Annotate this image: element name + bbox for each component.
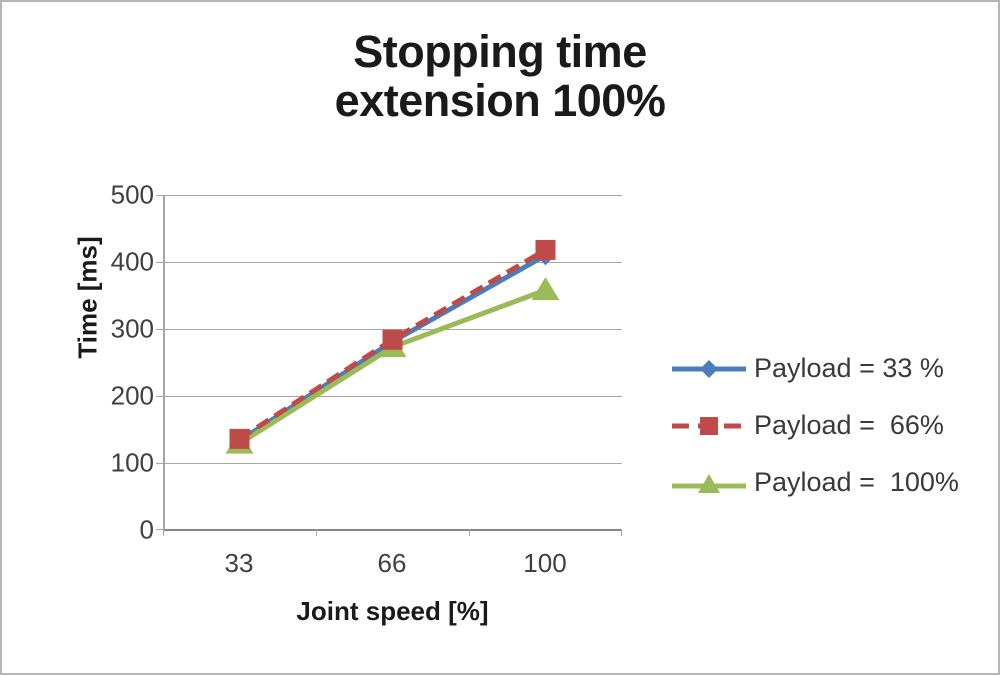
y-tick-label-0: 0	[74, 515, 154, 546]
y-tick-mark-500	[156, 195, 163, 196]
legend-item-payload-33[interactable]: Payload = 33 %	[670, 340, 990, 397]
y-axis-tick-labels: 0 100 200 300 400 500	[62, 195, 154, 530]
y-tick-label-100: 100	[74, 448, 154, 479]
x-tick-mark-2	[469, 529, 470, 536]
x-tick-label-33: 33	[179, 548, 299, 579]
x-tick-mark-1	[316, 529, 317, 536]
y-tick-mark-0	[156, 529, 163, 530]
legend-key-square-icon	[670, 412, 748, 440]
y-tick-mark-100	[156, 463, 163, 464]
chart-legend: Payload = 33 % Payload = 66%	[670, 340, 990, 511]
legend-key-triangle-icon	[670, 469, 748, 497]
y-tick-label-500: 500	[74, 180, 154, 211]
y-tick-mark-200	[156, 396, 163, 397]
legend-label-payload-33: Payload = 33 %	[754, 353, 944, 384]
data-point[interactable]	[532, 277, 560, 300]
y-tick-label-200: 200	[74, 381, 154, 412]
data-point[interactable]	[383, 330, 403, 350]
x-tick-label-66: 66	[332, 548, 452, 579]
legend-item-payload-66[interactable]: Payload = 66%	[670, 397, 990, 454]
data-point[interactable]	[536, 240, 556, 260]
y-tick-label-400: 400	[74, 247, 154, 278]
legend-key-diamond-icon	[670, 355, 748, 383]
legend-label-payload-66: Payload = 66%	[754, 410, 944, 441]
chart-window: Stopping time extension 100% Time [ms] 0…	[0, 0, 1000, 675]
legend-label-payload-100: Payload = 100%	[754, 467, 959, 498]
chart-title-line-1: Stopping time	[2, 28, 998, 77]
legend-item-payload-100[interactable]: Payload = 100%	[670, 454, 990, 511]
x-axis-tick-labels: 33 66 100	[163, 548, 622, 584]
chart-canvas: Stopping time extension 100% Time [ms] 0…	[2, 2, 998, 673]
x-axis-title: Joint speed [%]	[163, 596, 622, 627]
y-tick-label-300: 300	[74, 314, 154, 345]
y-tick-mark-400	[156, 262, 163, 263]
data-point[interactable]	[230, 429, 250, 449]
series-payload-100[interactable]	[226, 277, 560, 453]
x-tick-label-100: 100	[485, 548, 605, 579]
x-tick-mark-end	[621, 529, 622, 536]
chart-title-line-2: extension 100%	[2, 77, 998, 126]
x-tick-mark-start	[163, 529, 164, 536]
y-tick-mark-300	[156, 329, 163, 330]
chart-title: Stopping time extension 100%	[2, 28, 998, 125]
data-series-layer	[163, 195, 622, 530]
